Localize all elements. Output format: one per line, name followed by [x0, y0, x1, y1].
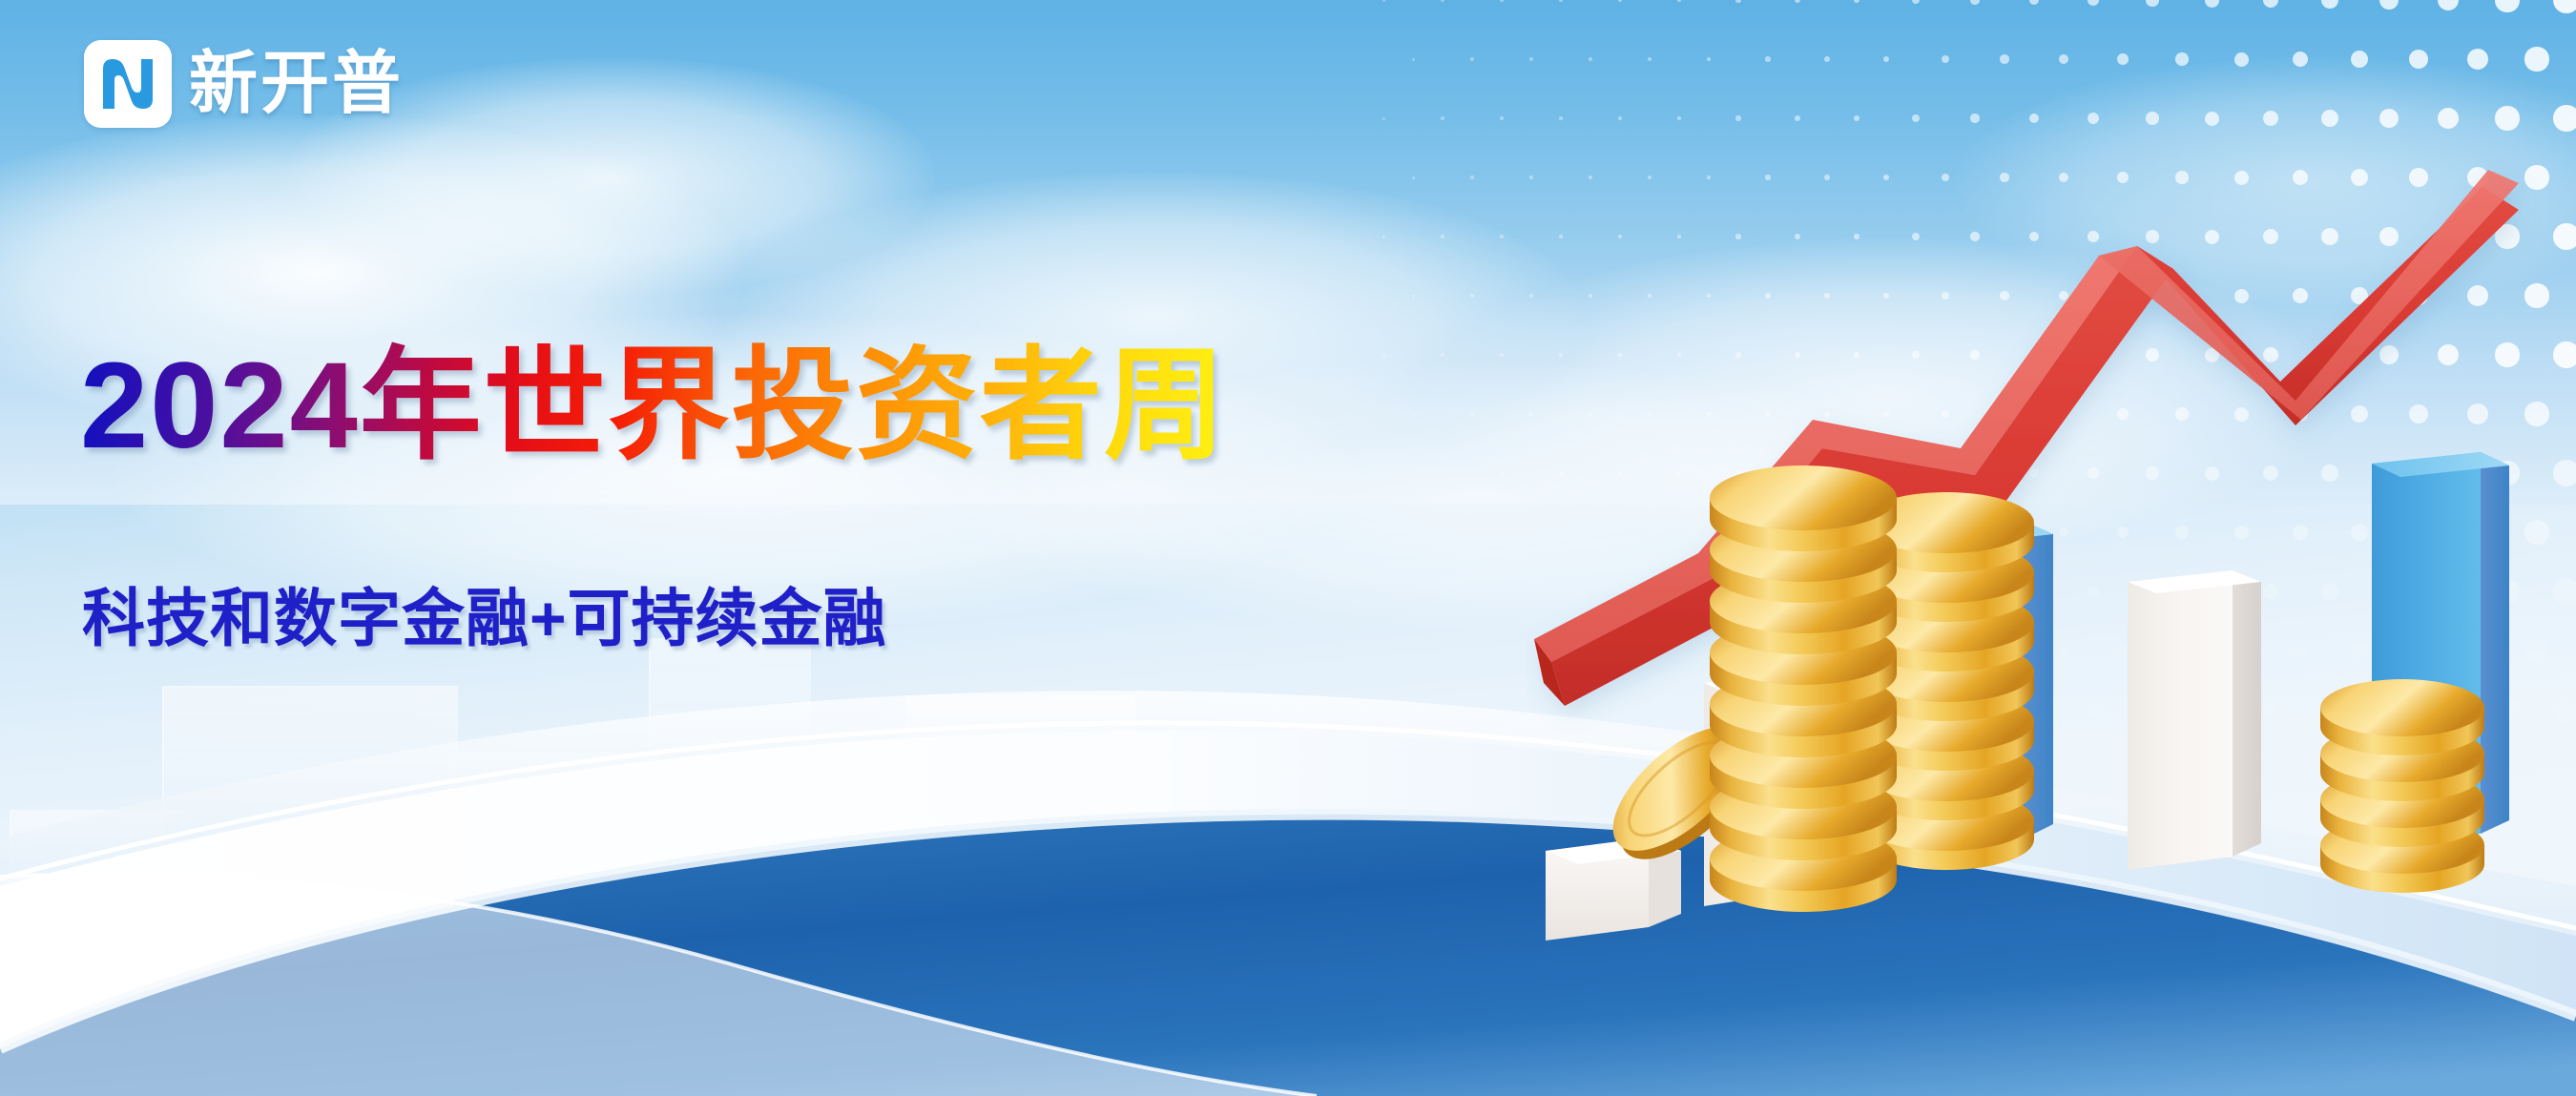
brand-logo-text: 新开普 [189, 50, 404, 118]
halftone-dot [1382, 709, 1385, 712]
page-title: 2024年世界投资者周 [80, 341, 1228, 471]
page-subtitle: 科技和数字金融+可持续金融 [82, 568, 887, 659]
coin-stack-right [2320, 679, 2484, 893]
halftone-dot [1500, 589, 1503, 592]
halftone-dot [1470, 649, 1473, 651]
finance-3d-illustration [1527, 0, 2576, 1096]
brand-logo[interactable]: 新开普 [84, 40, 404, 128]
halftone-dot [1412, 650, 1415, 652]
halftone-dot [1470, 530, 1473, 533]
investor-week-banner: 新开普 2024年世界投资者周 科技和数字金融+可持续金融 [0, 0, 2576, 1096]
halftone-dot [1441, 589, 1444, 592]
bar-white-tall [2128, 570, 2261, 870]
halftone-dot [1500, 708, 1503, 711]
halftone-dot [1412, 531, 1415, 534]
xinkaipu-n-logo-icon [84, 40, 172, 128]
halftone-dot [1441, 708, 1444, 711]
halftone-dot [1382, 590, 1385, 593]
coin-stack-left [1710, 465, 1897, 912]
